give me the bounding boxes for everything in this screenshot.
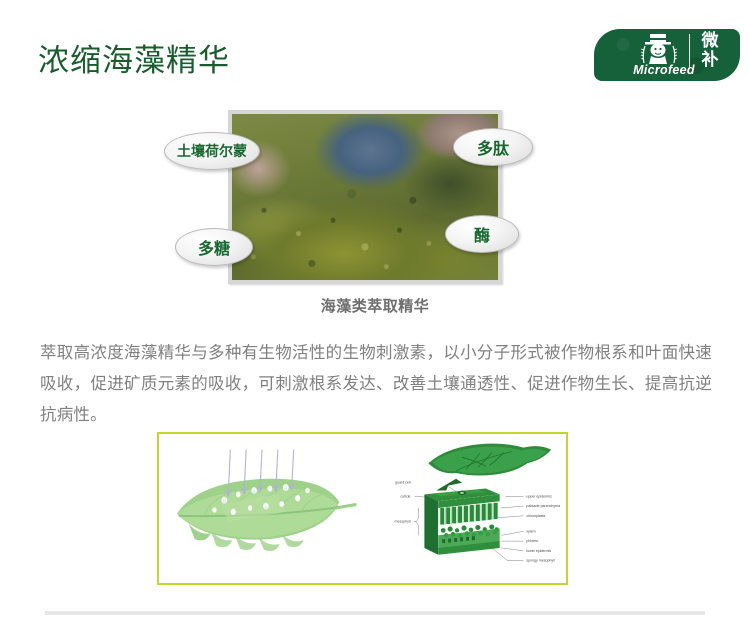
label-lower-epidermis: lower epidermis bbox=[526, 549, 551, 553]
callout-peptide: 多肽 bbox=[453, 128, 533, 166]
label-cuticle: cuticle bbox=[400, 494, 410, 498]
leaf-anatomy-diagram: guard cell cuticle mesophyll upper epide… bbox=[157, 432, 568, 585]
label-mesophyll: mesophyll bbox=[395, 520, 411, 524]
photo-caption: 海藻类萃取精华 bbox=[0, 295, 750, 316]
logo-wordmark: Microfeed bbox=[594, 63, 734, 77]
leaf-cross-section-anatomy-illustration bbox=[424, 444, 551, 555]
callout-soil-hormone: 土壤荷尔蒙 bbox=[164, 132, 260, 170]
label-chloroplasts: chloroplasts bbox=[526, 514, 545, 518]
bottom-divider bbox=[45, 611, 705, 615]
label-upper-epidermis: upper epidermis bbox=[526, 494, 552, 498]
label-palisade-parenchyma: palisade parenchyma bbox=[526, 504, 560, 508]
label-phloem: phloem bbox=[526, 539, 538, 543]
leaf-with-absorbed-droplets-illustration bbox=[177, 450, 357, 551]
callout-enzyme: 酶 bbox=[445, 215, 519, 253]
label-spongy-mesophyll: spongy mesophyll bbox=[526, 559, 555, 563]
label-xylem: xylem bbox=[526, 529, 535, 533]
callout-polysaccharide: 多糖 bbox=[175, 228, 253, 266]
brand-logo: 微补 Microfeed bbox=[594, 29, 740, 81]
body-paragraph: 萃取高浓度海藻精华与多种有生物活性的生物刺激素，以小分子形式被作物根系和叶面快速… bbox=[40, 338, 712, 431]
label-guard-cell: guard cell bbox=[395, 481, 411, 485]
page-title: 浓缩海藻精华 bbox=[38, 42, 230, 80]
leaf-anatomy-diagram-svg: guard cell cuticle mesophyll upper epide… bbox=[159, 434, 566, 583]
page-header: 浓缩海藻精华 微补 Microfeed bbox=[0, 0, 750, 100]
